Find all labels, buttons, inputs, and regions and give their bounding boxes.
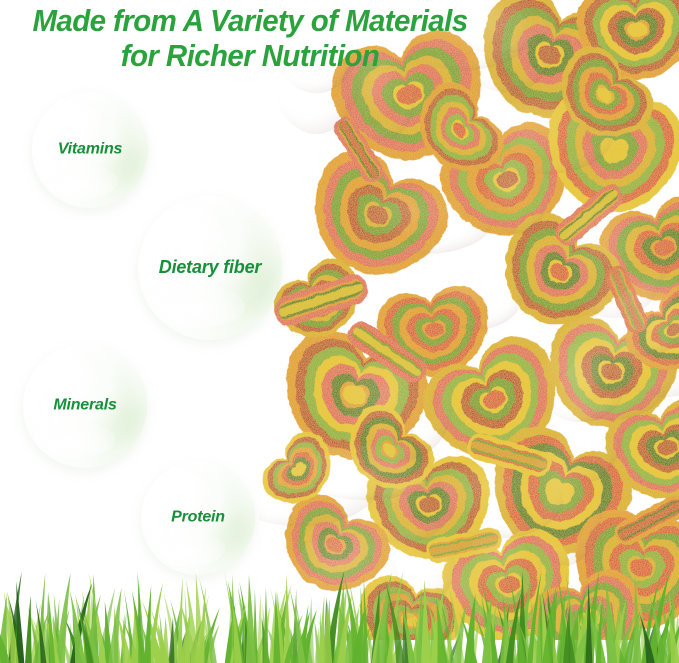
nutrient-bubble-label: Vitamins <box>32 141 148 159</box>
grass-blade <box>144 586 151 663</box>
nutrient-bubble-label: Dietary fiber <box>138 257 282 278</box>
grass-blade <box>25 595 32 663</box>
grass-blade <box>363 576 368 663</box>
grass-blade <box>137 572 145 663</box>
nutrient-bubble-dietary-fiber: Dietary fiber <box>138 196 282 340</box>
product-image <box>259 0 679 640</box>
nutrient-bubble-minerals: Minerals <box>23 344 147 468</box>
promo-banner: Made from A Variety of Materials for Ric… <box>0 0 679 663</box>
grass-border <box>0 558 679 663</box>
nutrient-bubble-vitamins: Vitamins <box>32 92 148 208</box>
nutrient-bubble-label: Minerals <box>23 397 147 415</box>
grass-blade <box>633 575 641 663</box>
grass-blade <box>16 581 25 663</box>
nutrient-bubble-label: Protein <box>141 509 255 527</box>
